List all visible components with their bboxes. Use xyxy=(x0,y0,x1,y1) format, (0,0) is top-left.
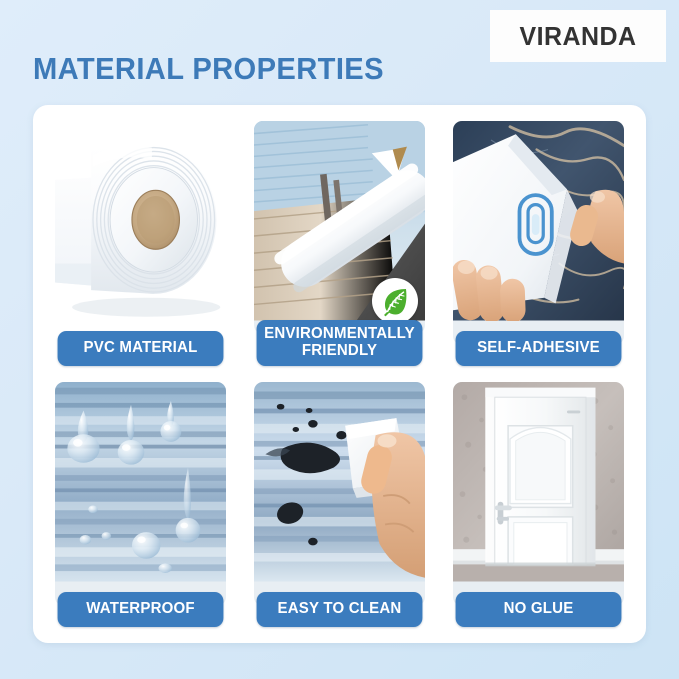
feature-label-self-adhesive: SELF-ADHESIVE xyxy=(456,331,622,366)
feature-image-beach-roll xyxy=(254,121,425,334)
page-title: MATERIAL PROPERTIES xyxy=(33,51,384,87)
feature-card-easy-to-clean[interactable]: EASY TO CLEAN xyxy=(244,378,435,631)
feature-image-no-glue xyxy=(453,382,624,606)
feature-image-self-adhesive xyxy=(453,121,624,345)
feature-label-environmentally-friendly: ENVIRONMENTALLY FRIENDLY xyxy=(257,320,423,366)
feature-card-pvc-material[interactable]: PVC MATERIAL xyxy=(45,117,236,370)
feature-card-no-glue[interactable]: NO GLUE xyxy=(443,378,634,631)
brand-badge: VIRANDA xyxy=(490,10,666,62)
feature-label-waterproof: WATERPROOF xyxy=(58,592,224,627)
infographic-page: VIRANDA MATERIAL PROPERTIES xyxy=(0,0,679,679)
brand-name: VIRANDA xyxy=(519,21,636,52)
feature-image-waterproof xyxy=(55,382,226,606)
features-panel: PVC MATERIAL xyxy=(33,105,646,643)
feature-card-environmentally-friendly[interactable]: ENVIRONMENTALLY FRIENDLY xyxy=(244,117,435,370)
feature-label-no-glue: NO GLUE xyxy=(456,592,622,627)
wiping-cloth-illustration xyxy=(254,382,425,582)
water-droplets-illustration xyxy=(55,382,226,582)
feature-label-line-1: ENVIRONMENTALLY xyxy=(264,325,415,342)
leaf-badge xyxy=(372,278,418,324)
feature-card-waterproof[interactable]: WATERPROOF xyxy=(45,378,236,631)
pvc-roll-illustration xyxy=(55,121,226,321)
feature-card-self-adhesive[interactable]: SELF-ADHESIVE xyxy=(443,117,634,370)
feature-label-pvc-material: PVC MATERIAL xyxy=(58,331,224,366)
features-grid: PVC MATERIAL xyxy=(45,117,634,631)
feature-label-line-2: FRIENDLY xyxy=(302,342,377,359)
peeling-sheet-illustration xyxy=(453,121,624,321)
feature-label-easy-to-clean: EASY TO CLEAN xyxy=(257,592,423,627)
leaf-icon xyxy=(379,285,411,317)
feature-image-easy-to-clean xyxy=(254,382,425,606)
feature-image-pvc-roll xyxy=(55,121,226,345)
white-door-illustration xyxy=(453,382,624,582)
